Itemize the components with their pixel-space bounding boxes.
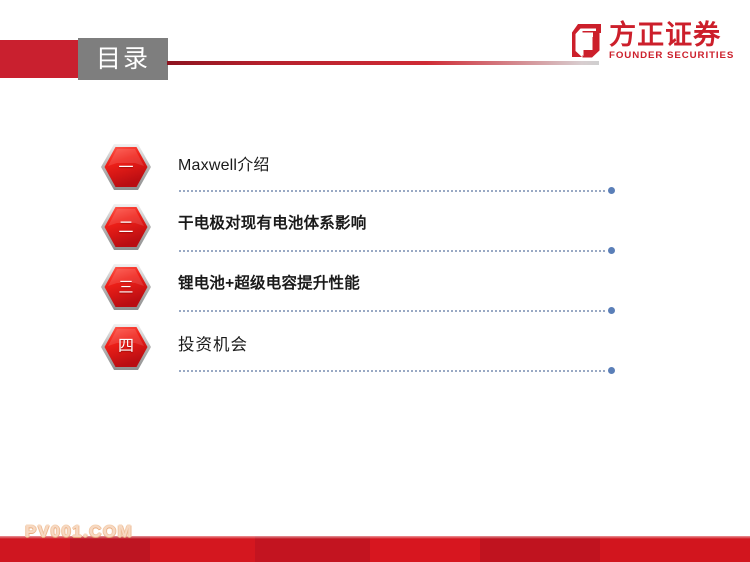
toc-leader-4	[178, 367, 615, 376]
footer-bar	[0, 536, 750, 562]
toc-label-2: 干电极对现有电池体系影响	[178, 211, 366, 233]
hexagon-badge-icon	[100, 143, 152, 191]
toc-leader-2	[178, 247, 615, 256]
toc-item-2[interactable]: 二 干电极对现有电池体系影响	[100, 203, 620, 263]
toc-item-1[interactable]: 一 Maxwell介绍	[100, 143, 620, 203]
leader-dotted-line	[178, 310, 606, 312]
leader-end-dot	[608, 367, 615, 374]
page-title: 目录	[96, 47, 150, 72]
toc-label-3: 锂电池+超级电容提升性能	[178, 271, 360, 293]
leader-end-dot	[608, 247, 615, 254]
hexagon-badge-icon	[100, 323, 152, 371]
toc-leader-3	[178, 307, 615, 316]
hexagon-badge-icon	[100, 263, 152, 311]
slide-canvas: 目录 方正证券 FOUNDER SECURITIES	[0, 0, 750, 562]
hexagon-badge-icon	[100, 203, 152, 251]
slide-header: 目录 方正证券 FOUNDER SECURITIES	[0, 0, 750, 100]
toc-label-4: 投资机会	[178, 331, 248, 355]
founder-hexagon-mark-icon	[570, 23, 604, 59]
toc-label-1: Maxwell介绍	[178, 151, 270, 175]
toc-leader-1	[178, 187, 615, 196]
leader-dotted-line	[178, 250, 606, 252]
header-rule	[167, 61, 599, 65]
logo-text: 方正证券 FOUNDER SECURITIES	[609, 22, 732, 61]
toc-item-3[interactable]: 三 锂电池+超级电容提升性能	[100, 263, 620, 323]
logo-chinese-name: 方正证券	[609, 22, 732, 50]
leader-end-dot	[608, 187, 615, 194]
brand-logo: 方正证券 FOUNDER SECURITIES	[570, 22, 732, 61]
leader-dotted-line	[178, 370, 606, 372]
toc-item-4[interactable]: 四 投资机会	[100, 323, 620, 383]
toc-list: 一 Maxwell介绍 二 干电极对现有电池体系影响	[100, 143, 620, 383]
leader-dotted-line	[178, 190, 606, 192]
logo-english-name: FOUNDER SECURITIES	[609, 51, 734, 61]
header-title-box: 目录	[78, 38, 168, 80]
leader-end-dot	[608, 307, 615, 314]
